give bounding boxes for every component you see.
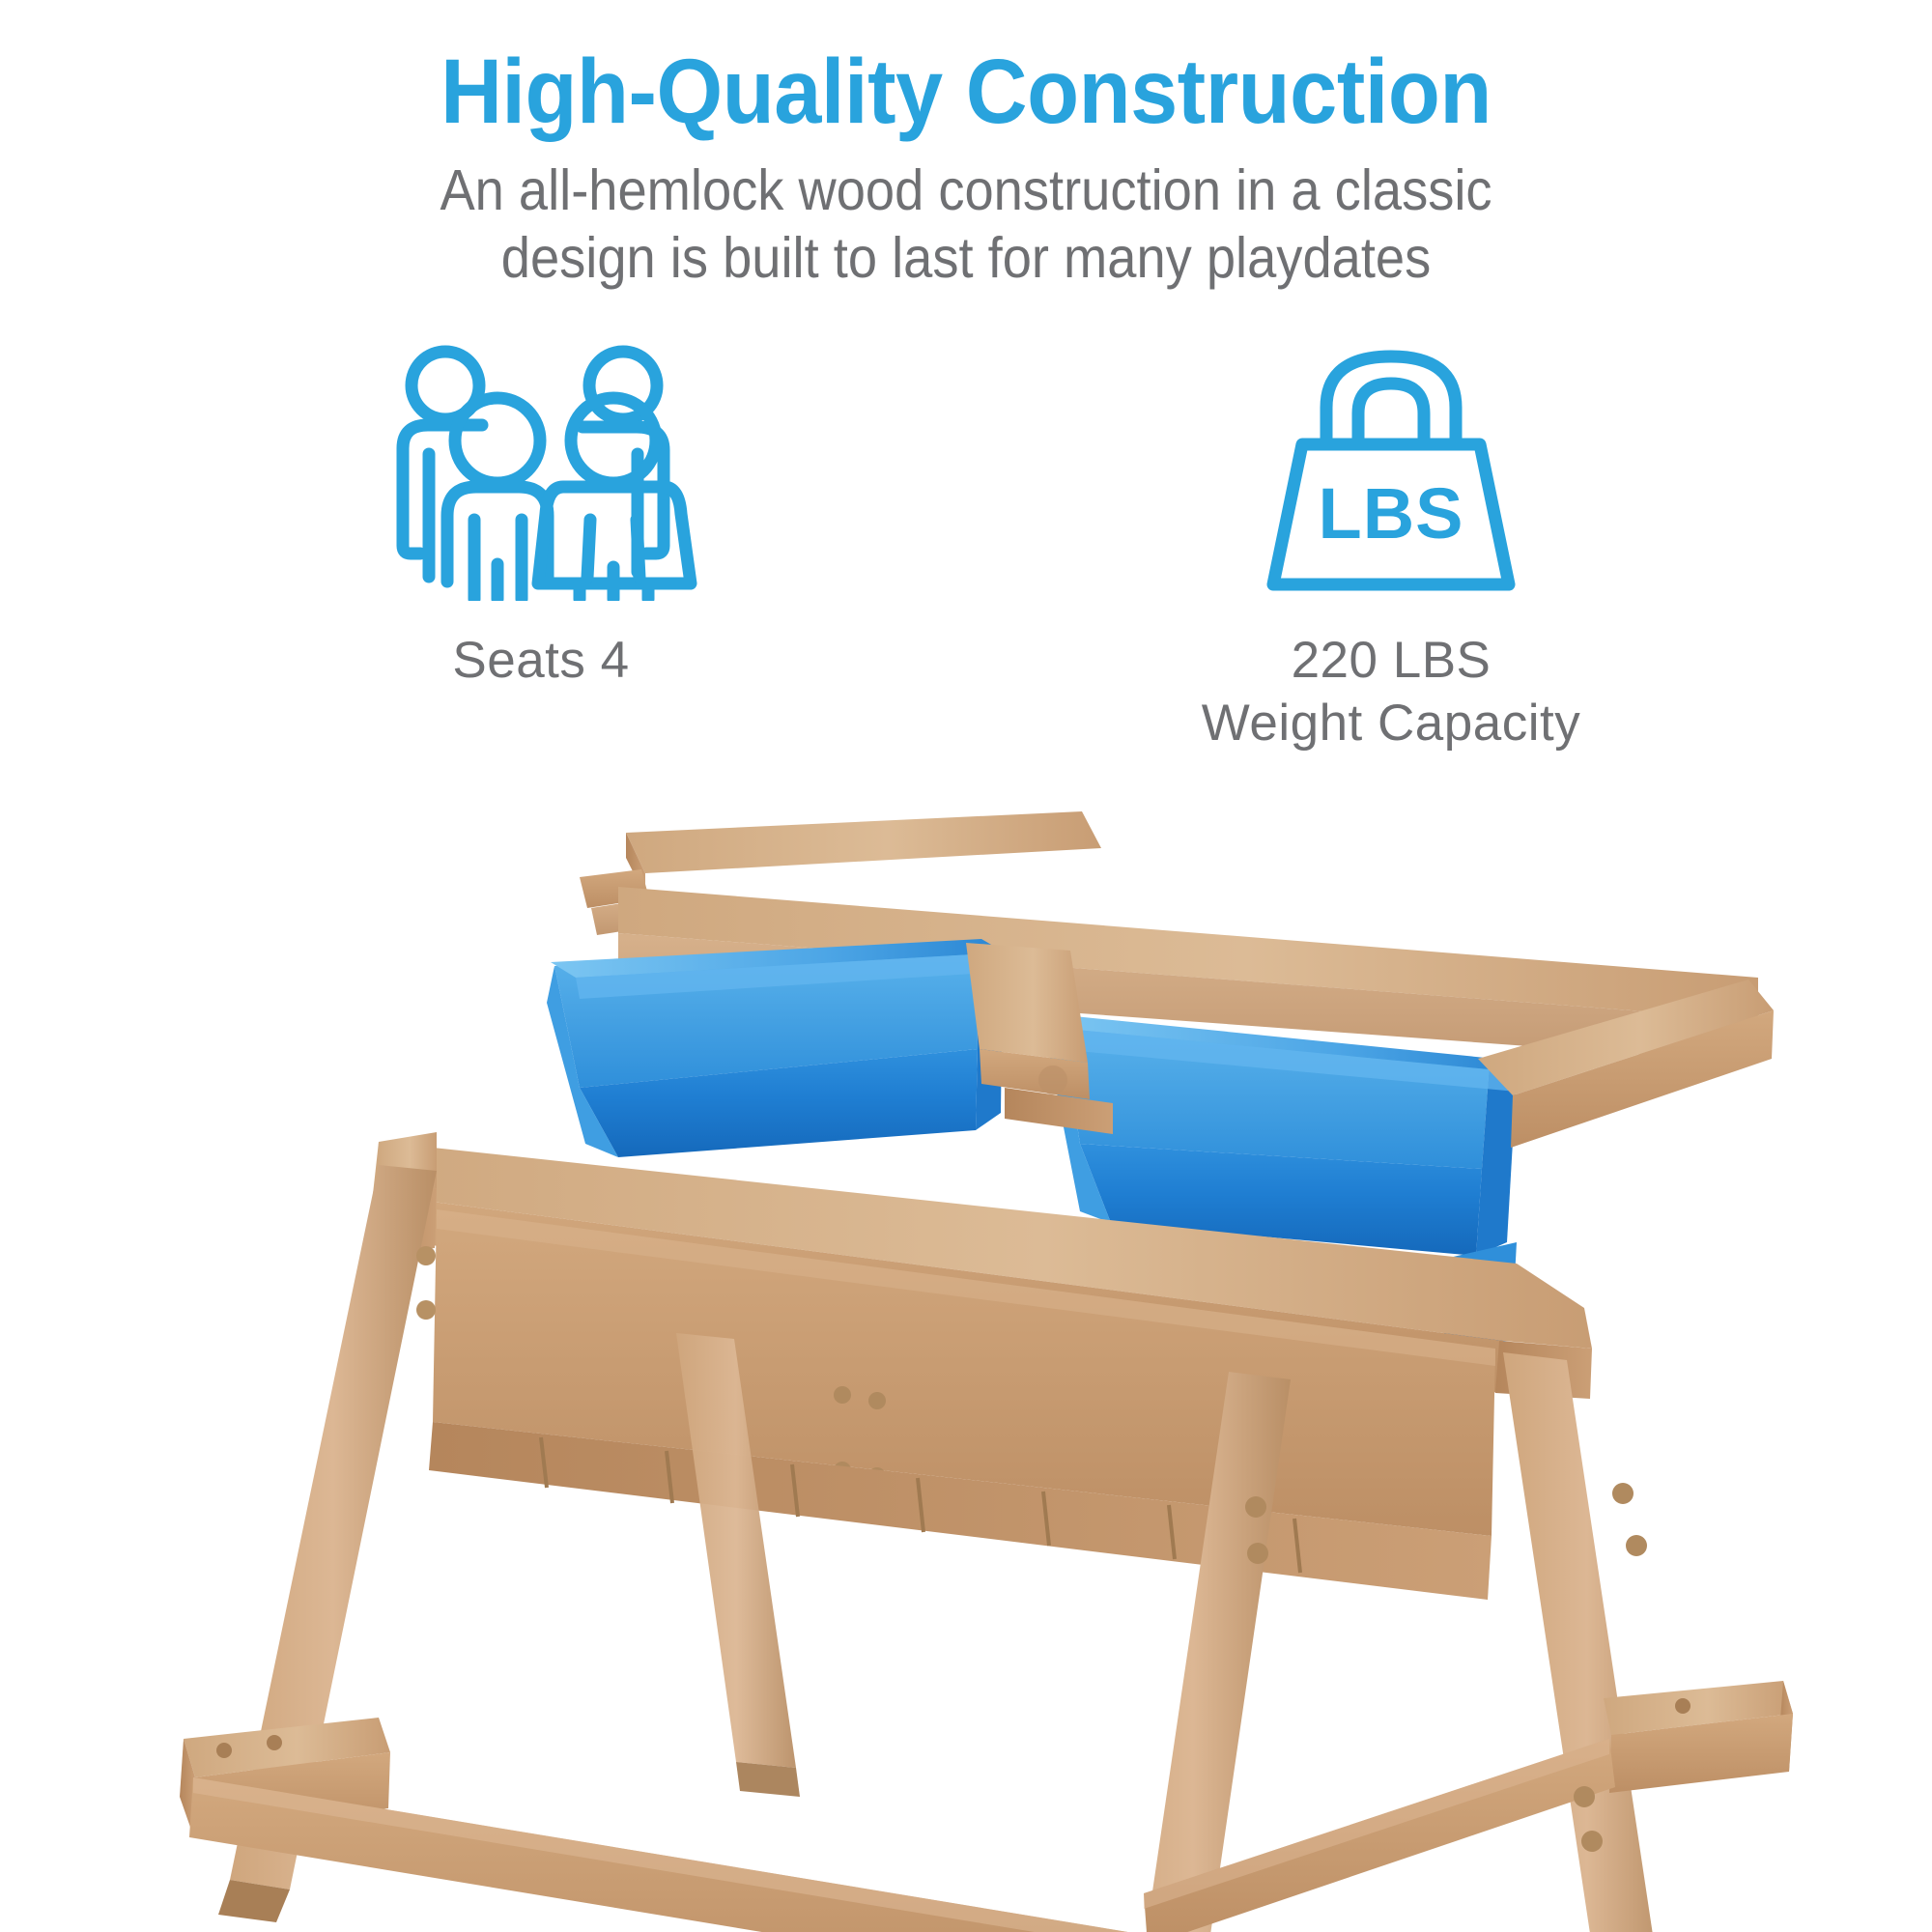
weight-bag-icon-text: LBS xyxy=(1319,473,1464,554)
feature-weight-value: 220 LBS xyxy=(1292,632,1492,689)
infographic-page: High-Quality Construction An all-hemlock… xyxy=(0,0,1932,1932)
product-image xyxy=(0,773,1932,1932)
bench-seat-right xyxy=(1604,1681,1793,1793)
page-subtitle: An all-hemlock wood construction in a cl… xyxy=(77,157,1855,292)
sand-water-bin-left xyxy=(547,939,1005,1157)
page-title: High-Quality Construction xyxy=(68,46,1864,138)
feature-seats: Seats 4 xyxy=(174,340,908,693)
feature-row: Seats 4 LBS 220 LBS xyxy=(0,340,1932,754)
subtitle-line-1: An all-hemlock wood construction in a cl… xyxy=(440,158,1492,222)
picnic-table-illustration xyxy=(0,773,1932,1932)
feature-weight-caption: 220 LBS Weight Capacity xyxy=(1202,630,1580,754)
weight-bag-icon: LBS xyxy=(1246,340,1536,601)
subtitle-line-2: design is built to last for many playdat… xyxy=(77,225,1855,293)
feature-weight: LBS 220 LBS Weight Capacity xyxy=(1024,340,1758,754)
family-group-icon xyxy=(382,340,700,601)
feature-weight-label: Weight Capacity xyxy=(1202,693,1580,755)
feature-seats-label: Seats 4 xyxy=(452,632,629,689)
feature-seats-caption: Seats 4 xyxy=(452,630,629,693)
header: High-Quality Construction An all-hemlock… xyxy=(0,46,1932,292)
